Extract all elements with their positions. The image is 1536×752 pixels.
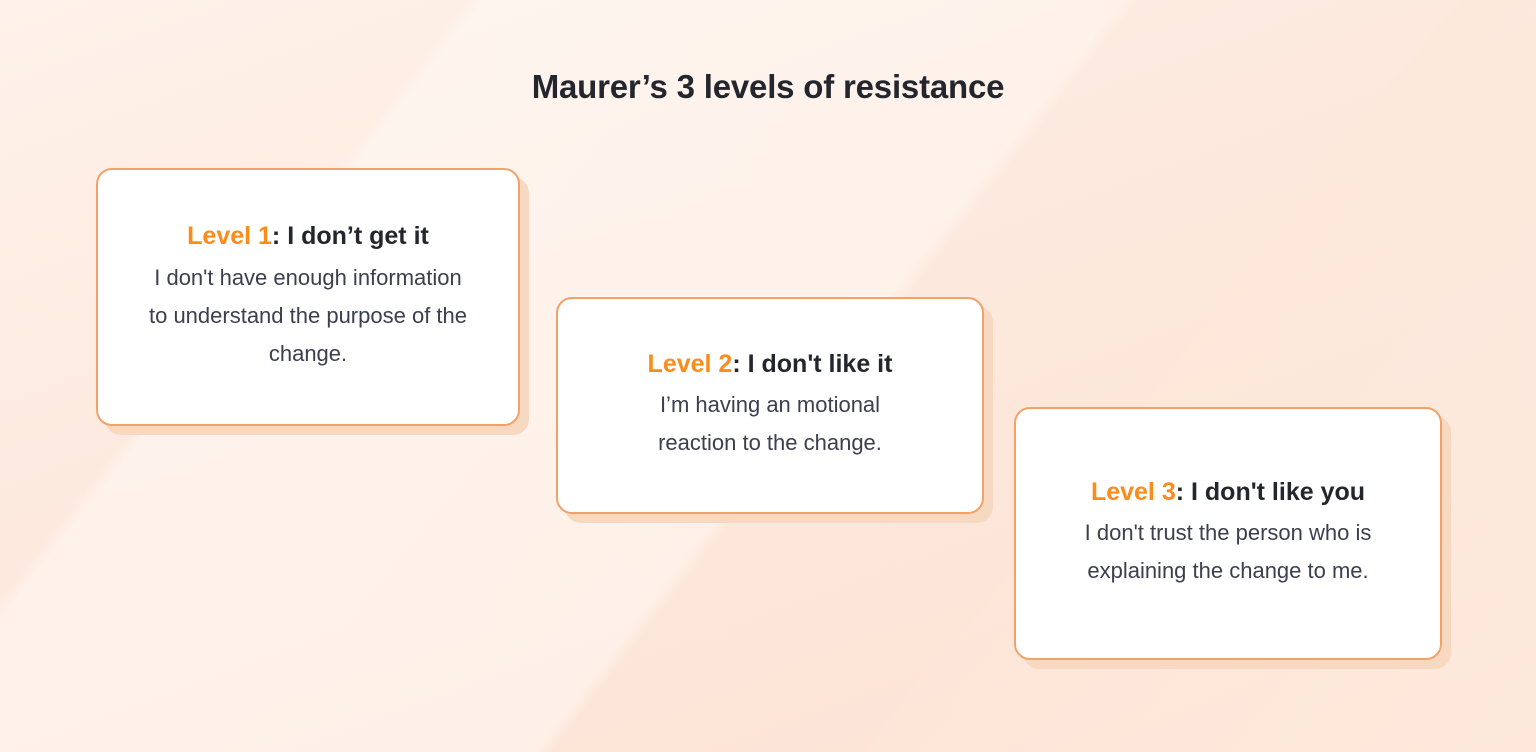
level-card-2-headline: I don't like it bbox=[748, 350, 893, 378]
level-card-3-separator: : bbox=[1176, 478, 1191, 506]
level-card-1-heading: Level 1: I don’t get it bbox=[187, 221, 429, 252]
level-card-2-separator: : bbox=[732, 350, 747, 378]
level-card-3-body: I don't trust the person who is explaini… bbox=[1053, 514, 1403, 590]
level-card-3-level-label: Level 3 bbox=[1091, 478, 1176, 506]
level-card-2: Level 2: I don't like it I’m having an m… bbox=[556, 297, 984, 514]
level-card-1-separator: : bbox=[272, 222, 287, 250]
level-card-3-headline: I don't like you bbox=[1191, 478, 1365, 506]
level-card-2-heading: Level 2: I don't like it bbox=[648, 349, 893, 380]
level-card-1: Level 1: I don’t get it I don't have eno… bbox=[96, 168, 520, 426]
page-title: Maurer’s 3 levels of resistance bbox=[0, 68, 1536, 106]
level-card-1-body: I don't have enough information to under… bbox=[143, 259, 473, 373]
level-card-1-level-label: Level 1 bbox=[187, 222, 272, 250]
infographic-canvas: Maurer’s 3 levels of resistance Level 1:… bbox=[0, 0, 1536, 752]
level-card-2-level-label: Level 2 bbox=[648, 350, 733, 378]
level-card-3: Level 3: I don't like you I don't trust … bbox=[1014, 407, 1442, 660]
level-card-1-headline: I don’t get it bbox=[287, 222, 429, 250]
level-card-2-body: I’m having an motional reaction to the c… bbox=[620, 386, 920, 462]
level-card-3-heading: Level 3: I don't like you bbox=[1091, 477, 1365, 508]
